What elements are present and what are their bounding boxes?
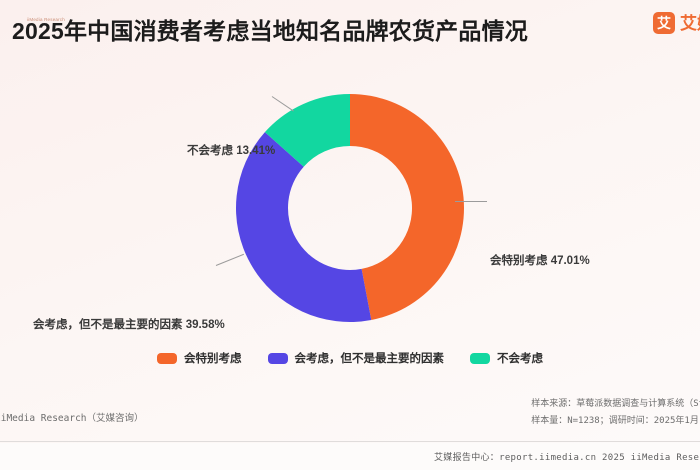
legend-swatch-icon: [470, 353, 490, 364]
brand-logo: 艾 艾媒咨询: [653, 12, 700, 34]
legend-item-label: 会特别考虑: [184, 350, 242, 366]
brand-mark-icon: 艾: [653, 12, 675, 34]
legend-swatch-icon: [268, 353, 288, 364]
footnote-sample: 样本来源：草莓派数据调查与计算系统（Strawberr 样本量：N=1238；调…: [531, 396, 700, 430]
bottom-divider: [0, 441, 700, 442]
title-bar: 2025年中国消费者考虑当地知名品牌农货产品情况: [0, 0, 700, 52]
legend-item-label: 不会考虑: [497, 350, 543, 366]
chart-legend: 会特别考虑会考虑，但不是最主要的因素不会考虑: [0, 350, 700, 366]
legend-item-label: 会考虑，但不是最主要的因素: [295, 350, 445, 366]
brand-subtitle: iiMedia Research: [27, 17, 65, 22]
footnote-sample-size: 样本量：N=1238；调研时间：2025年1月: [531, 413, 700, 430]
callout-label-no: 不会考虑 13.41%: [187, 142, 275, 158]
legend-item[interactable]: 不会考虑: [470, 350, 543, 366]
donut-svg: [232, 90, 468, 326]
callout-label-strong: 会特别考虑 47.01%: [490, 252, 590, 268]
donut-chart: [232, 90, 468, 326]
footnote-sample-source: 样本来源：草莓派数据调查与计算系统（Strawberr: [531, 396, 700, 413]
chart-area: 不会考虑 13.41% 会特别考虑 47.01% 会考虑，但不是最主要的因素 3…: [0, 58, 700, 343]
legend-item[interactable]: 会特别考虑: [157, 350, 242, 366]
brand-wordmark: 艾媒咨询: [680, 15, 700, 32]
donut-slice: [350, 94, 464, 320]
legend-item[interactable]: 会考虑，但不是最主要的因素: [268, 350, 445, 366]
callout-label-secondary: 会考虑，但不是最主要的因素 39.58%: [33, 316, 225, 332]
legend-swatch-icon: [157, 353, 177, 364]
bottom-bar-text: 艾媒报告中心：report.iimedia.cn 2025 iiMedia Re…: [434, 450, 699, 463]
report-poster: 2025年中国消费者考虑当地知名品牌农货产品情况 艾 艾媒咨询 iiMedia …: [0, 0, 700, 470]
leader-line-right: [455, 201, 487, 202]
page-title: 2025年中国消费者考虑当地知名品牌农货产品情况: [12, 12, 528, 46]
footnote-source: 源：iiMedia Research（艾媒咨询）: [0, 410, 144, 424]
